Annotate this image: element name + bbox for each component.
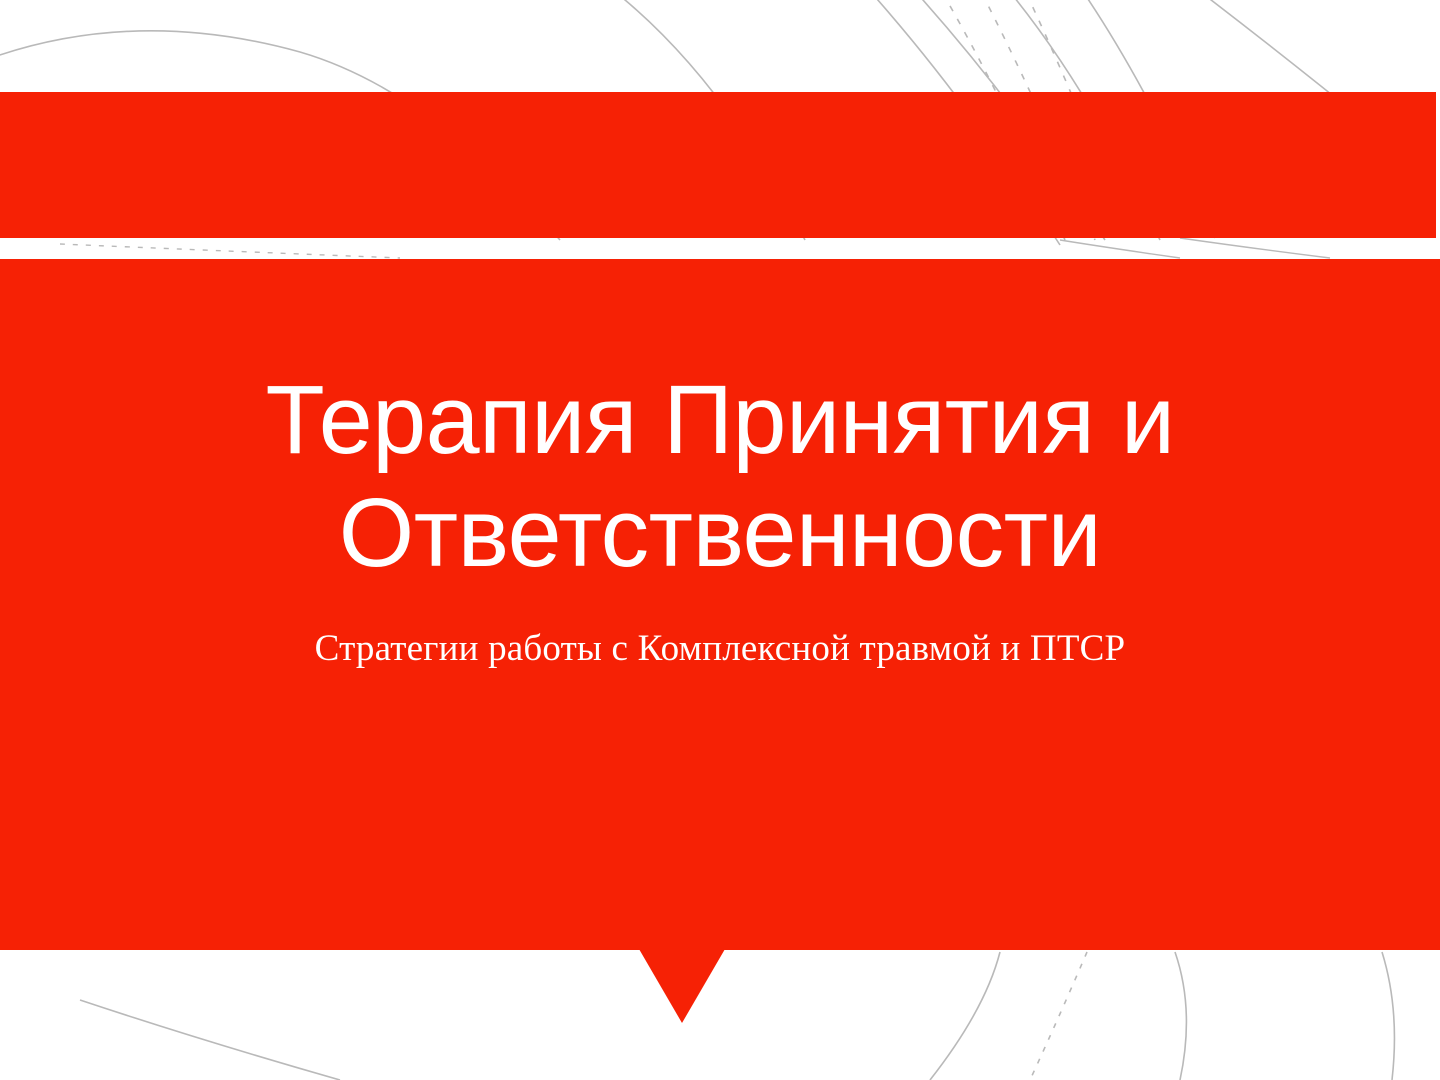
presentation-slide: Терапия Принятия и Ответственности Страт…	[0, 0, 1440, 1080]
speech-bubble-tail	[639, 949, 725, 1023]
accent-band	[0, 92, 1436, 238]
page-subtitle: Стратегии работы с Комплексной травмой и…	[120, 626, 1320, 672]
title-block: Терапия Принятия и Ответственности Страт…	[0, 259, 1440, 950]
page-title: Терапия Принятия и Ответственности	[140, 363, 1300, 590]
